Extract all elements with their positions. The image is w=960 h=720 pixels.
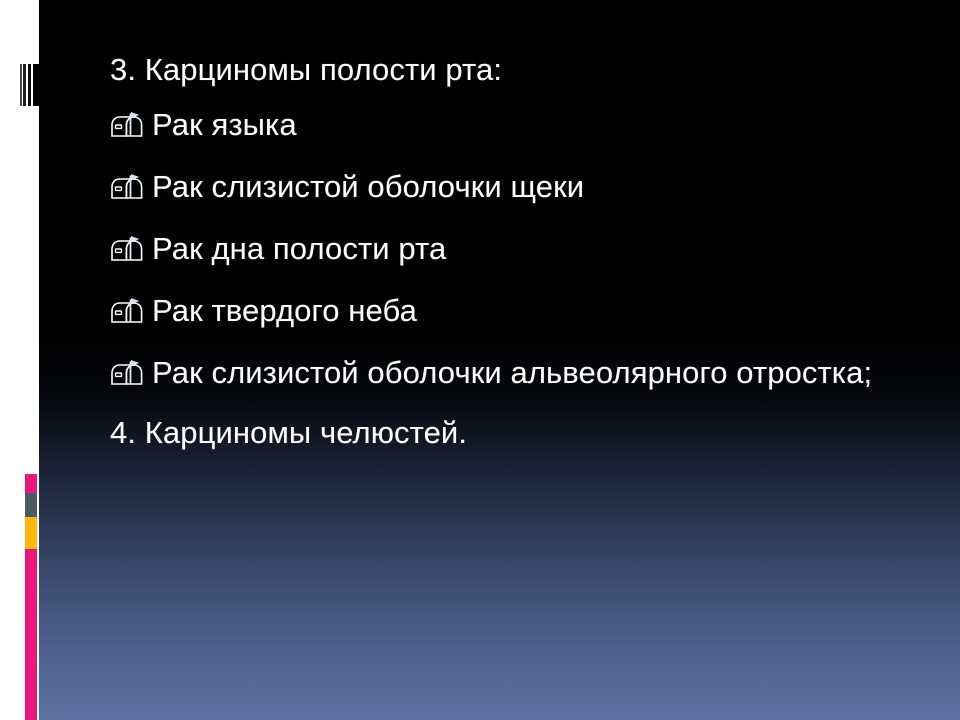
slide-heading-text: 3. Карциномы полости рта: — [108, 52, 908, 87]
list-item-label: Рак твердого неба — [152, 293, 908, 328]
list-item-label: Рак дна полости рта — [152, 231, 908, 266]
mailbox-icon — [108, 235, 152, 269]
accent-bar-magenta-long — [25, 549, 37, 720]
slide-body: 3. Карциномы полости рта: Рак языка — [108, 52, 908, 450]
list-item: Рак твердого неба — [108, 293, 908, 331]
list-item-label: Рак слизистой оболочки альвеолярного отр… — [152, 355, 887, 390]
mailbox-icon — [108, 173, 152, 207]
list-item: Рак слизистой оболочки щеки — [108, 169, 908, 207]
list-item: Рак языка — [108, 107, 908, 145]
mailbox-icon — [108, 111, 152, 145]
accent-bar-magenta-top — [25, 474, 37, 493]
list-item-label: Рак языка — [152, 107, 908, 142]
accent-bar-stack — [25, 474, 37, 720]
vertical-stripes-decoration — [20, 64, 39, 106]
mailbox-icon — [108, 359, 152, 393]
accent-bar-slate — [25, 493, 37, 517]
slide-heading: 3. Карциномы полости рта: — [108, 52, 908, 87]
accent-bar-amber — [25, 517, 37, 549]
mailbox-icon — [108, 297, 152, 331]
list-item: Рак дна полости рта — [108, 231, 908, 269]
list-item: Рак слизистой оболочки альвеолярного отр… — [108, 355, 908, 393]
slide: 3. Карциномы полости рта: Рак языка — [0, 0, 960, 720]
list-item-label: Рак слизистой оболочки щеки — [152, 169, 908, 204]
slide-footer-text: 4. Карциномы челюстей. — [108, 415, 908, 450]
slide-footer-line: 4. Карциномы челюстей. — [108, 415, 908, 450]
stripe-bar — [33, 64, 39, 106]
